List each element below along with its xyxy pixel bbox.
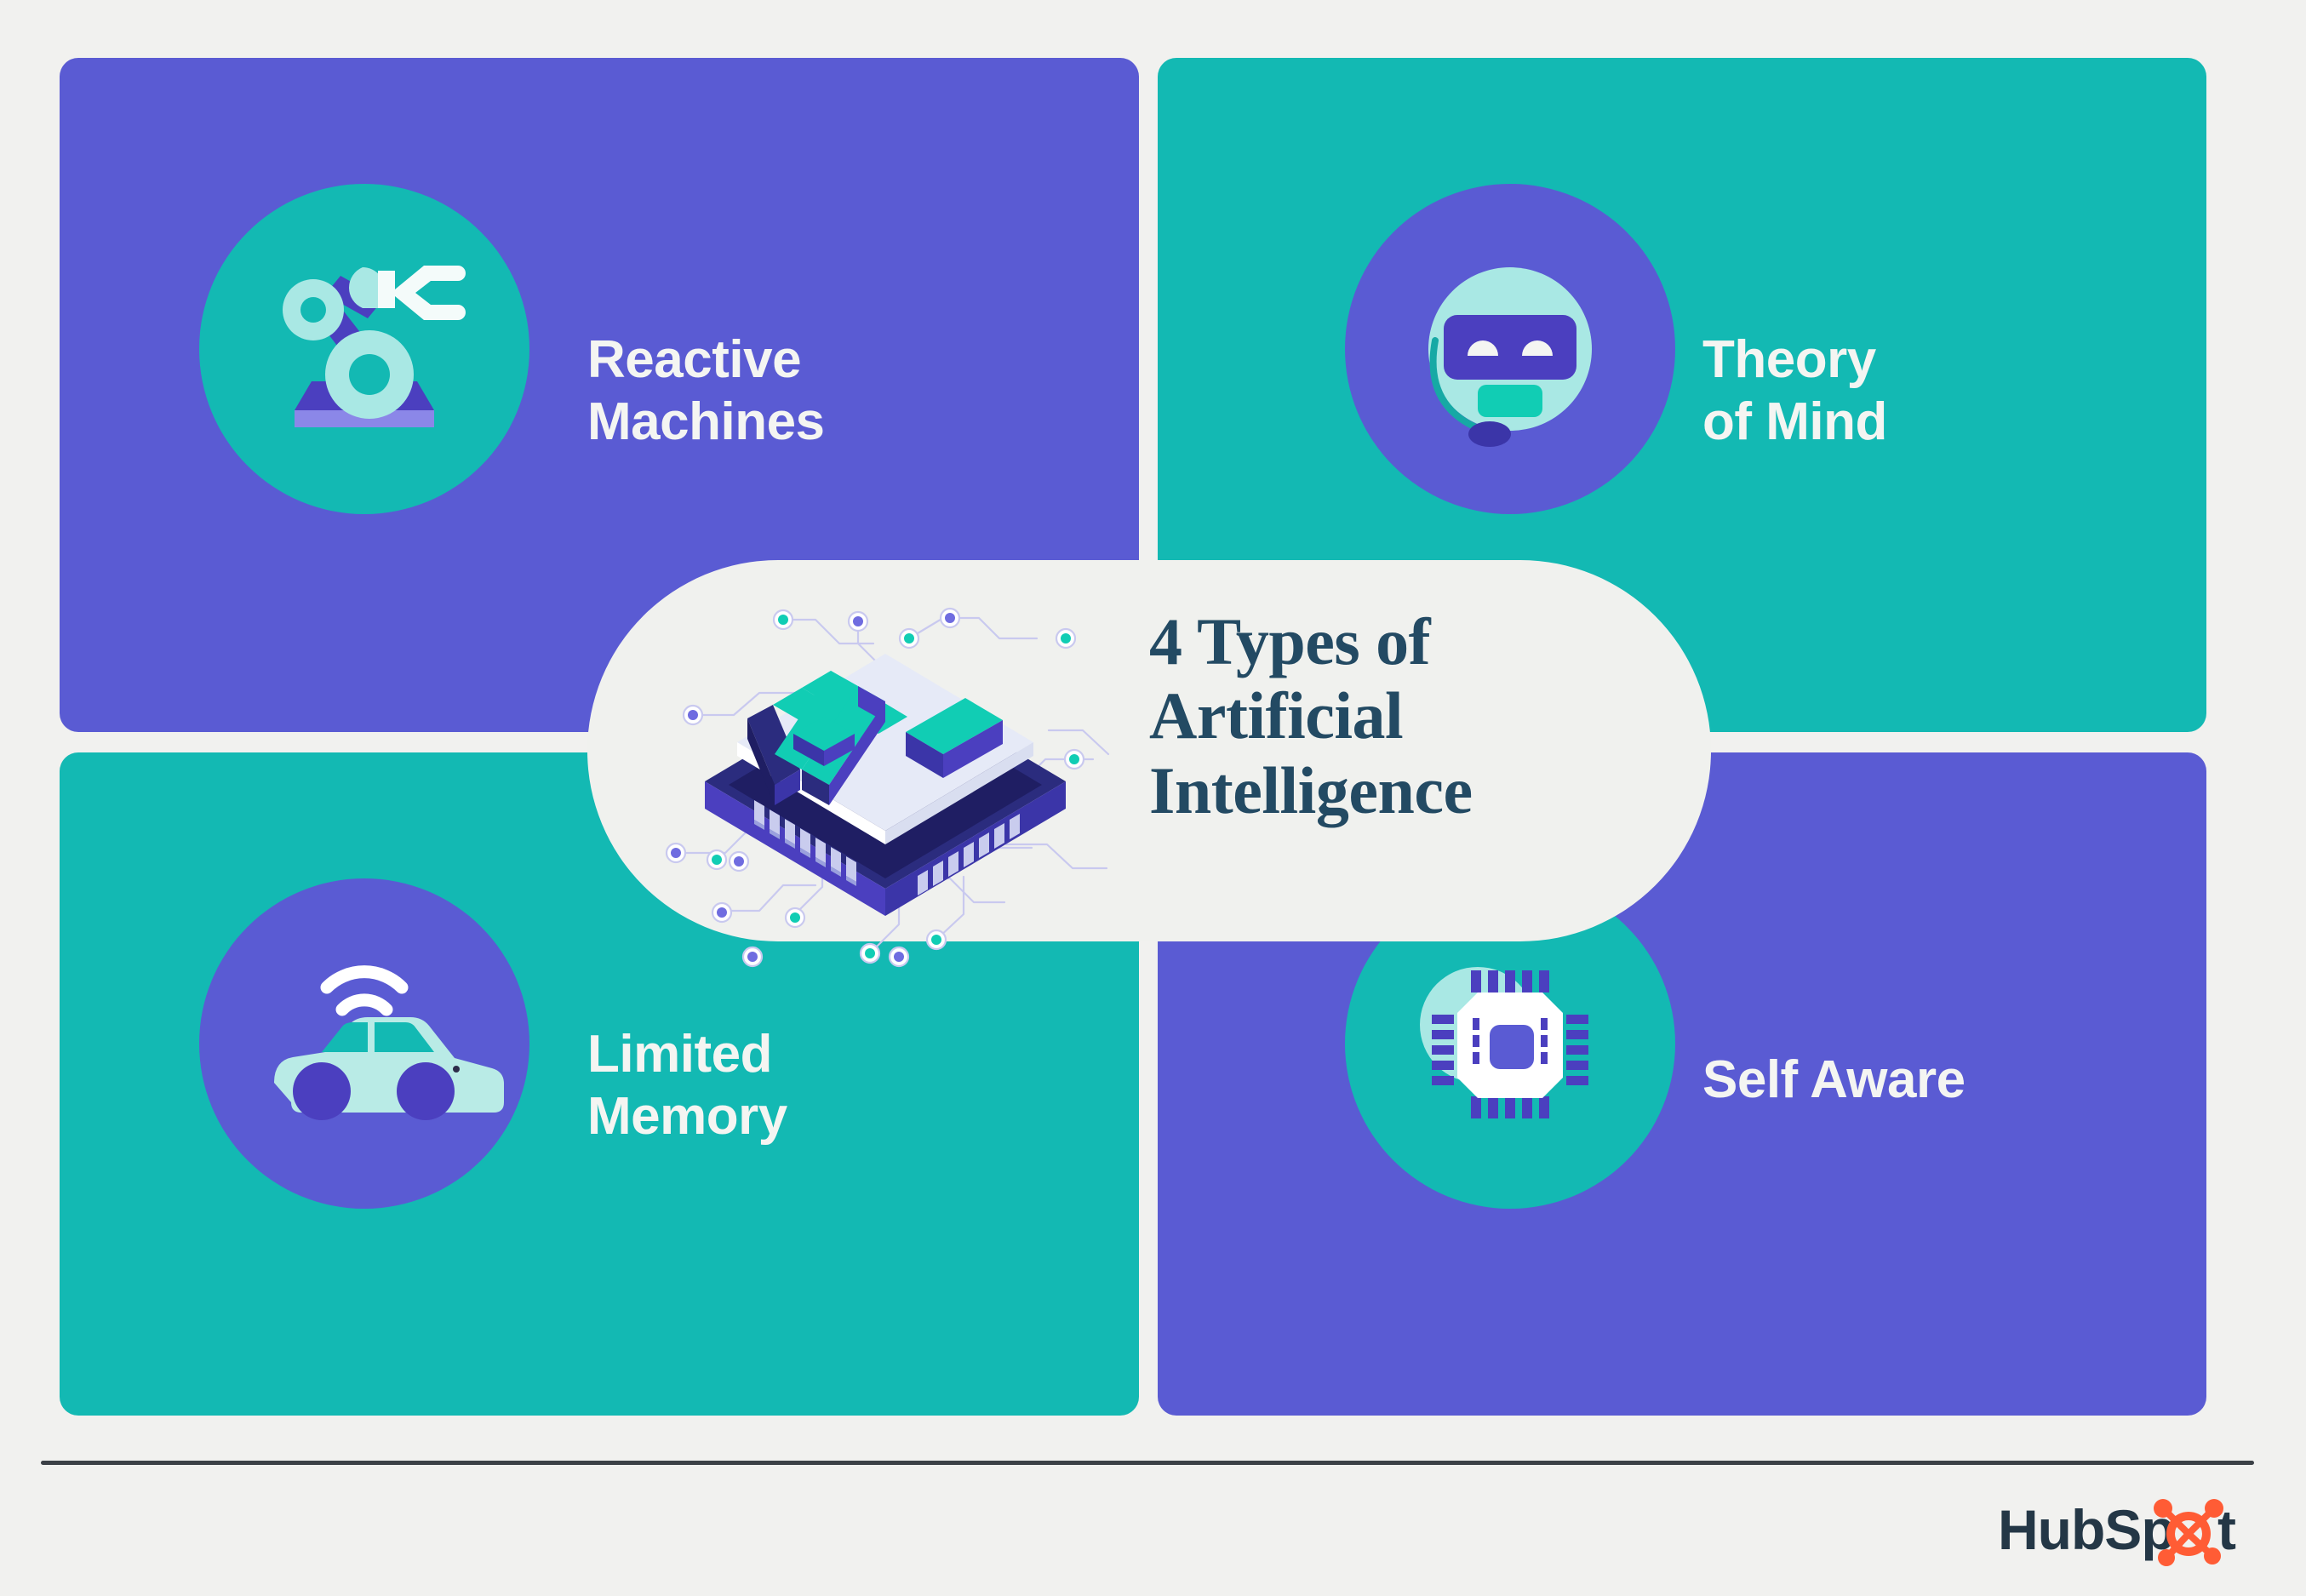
robot-head-icon-circle	[1345, 184, 1675, 514]
hubspot-logo-mark: HubSp t	[1998, 1495, 2262, 1568]
svg-text:t: t	[2217, 1498, 2236, 1561]
footer-divider	[41, 1461, 2254, 1465]
quadrant-label-theory-of-mind: Theory of Mind	[1702, 329, 1887, 453]
robot-arm-icon	[237, 221, 492, 477]
cpu-chip-icon	[1382, 916, 1638, 1171]
quadrant-label-limited-memory: Limited Memory	[587, 1023, 787, 1147]
robot-head-icon	[1382, 221, 1638, 477]
quadrant-label-self-aware: Self Aware	[1702, 1049, 1966, 1111]
center-badge: 4 Types of Artificial Intelligence	[587, 560, 1711, 941]
ai-chip-illustration	[666, 572, 1142, 938]
quadrant-label-reactive-machines: Reactive Machines	[587, 329, 825, 453]
hubspot-logo[interactable]: HubSp t	[1998, 1495, 2262, 1568]
connected-car-icon	[237, 916, 492, 1171]
infographic-canvas: Reactive Machines Theory of	[0, 0, 2306, 1596]
badge-title: 4 Types of Artificial Intelligence	[1149, 604, 1626, 827]
connected-car-icon-circle	[199, 878, 529, 1209]
robot-arm-icon-circle	[199, 184, 529, 514]
svg-text:HubSp: HubSp	[1998, 1498, 2175, 1561]
